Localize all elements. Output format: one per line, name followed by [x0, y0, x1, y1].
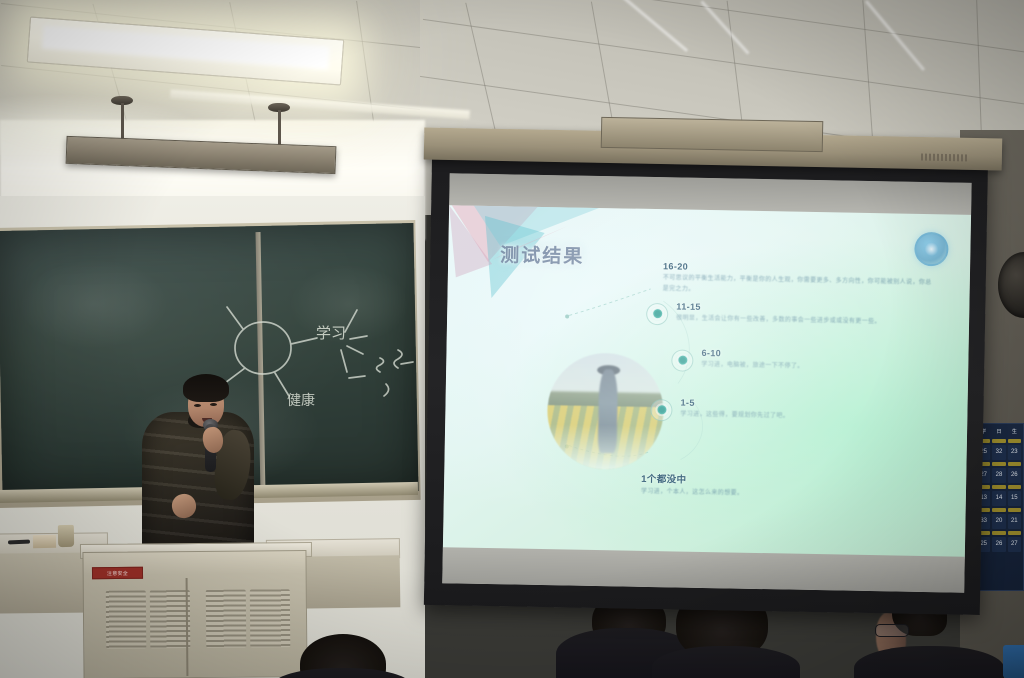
wall-chart-row: 25 32 23 — [977, 445, 1021, 460]
brand-logo — [921, 154, 969, 162]
marker-pen[interactable] — [8, 540, 30, 545]
wall-chart-cell: 15 — [1008, 491, 1021, 506]
wall-chart-header: 学 日 生 — [977, 427, 1021, 437]
node-description: 学习进，电脑被，旅途一下不停了。 — [701, 360, 931, 375]
wall-chart-header-cell: 生 — [1008, 427, 1021, 437]
wall-chart-cell: 28 — [992, 468, 1005, 483]
wall-chart-row: 27 28 26 — [977, 468, 1021, 483]
wall-chart-row: 33 20 21 — [977, 514, 1021, 529]
audience-shoulders-center — [652, 646, 800, 678]
wall-chart-cell: 32 — [992, 445, 1005, 460]
slide-node: 16-20 不可思议的平衡生活能力，平衡是你的人生观，你需要更多、多方向性，你可… — [633, 261, 934, 300]
footer-description: 学习进，个本人，这怎么来的想要。 — [641, 487, 744, 500]
slide-node: 6-10 学习进，电脑被，旅途一下不停了。 — [671, 347, 931, 376]
footer-label: 1个都没中 — [641, 471, 744, 487]
podium-vent-grill — [150, 590, 191, 648]
slide-node-list: 16-20 不可思议的平衡生活能力，平衡是你的人生观，你需要更多、多方向性，你可… — [630, 261, 933, 432]
wall-chart-cell: 20 — [992, 514, 1005, 529]
wall-chart-row: 13 14 15 — [977, 491, 1021, 506]
speaker-head — [183, 374, 229, 424]
screen-surface: 测试结果 — [442, 173, 971, 592]
node-description: 不可思议的平衡生活能力，平衡是你的人生观，你需要更多、多方向性，你可能被别人说，… — [663, 273, 933, 300]
classroom-scene: 学习 健康 学 日 生 25 32 23 27 28 26 13 14 15 — [0, 0, 1024, 678]
chalk-label-health: 健康 — [287, 392, 315, 408]
gear-icon — [650, 399, 672, 421]
chalk-label-study: 学习 — [316, 325, 346, 342]
blue-cup[interactable] — [1003, 645, 1024, 678]
podium-vent-grill — [106, 590, 147, 648]
wall-chart-cell: 26 — [1008, 468, 1021, 483]
podium-vent-grill — [250, 589, 291, 647]
gear-icon — [646, 302, 668, 324]
slide-footer-note: 1个都没中 学习进，个本人，这怎么来的想要。 — [641, 471, 744, 500]
node-marker-blank — [633, 263, 655, 285]
node-description: 很明显，生活会让你有一些改善，多数的事会一些进步或或没有更一些。 — [676, 313, 932, 328]
projector-screen-housing-box — [601, 117, 824, 152]
wall-chart-cell: 26 — [992, 537, 1005, 552]
slide-node: 1-5 学习进，这些得，要规划你先过了吧。 — [650, 397, 930, 426]
wall-chart-row: 25 26 27 — [977, 537, 1021, 552]
wall-chart-cell: 27 — [1008, 537, 1021, 552]
projection-screen: 测试结果 — [424, 145, 988, 615]
slide-node: 11-15 很明显，生活会让你有一些改善，多数的事会一些进步或或没有更一些。 — [646, 300, 932, 329]
wall-chart-cell: 21 — [1008, 514, 1021, 529]
presentation-slide: 测试结果 — [443, 205, 971, 559]
glasses-icon — [875, 624, 909, 637]
cup[interactable] — [58, 525, 74, 547]
podium-vent-grill — [206, 590, 247, 648]
podium-warning-label: 注意安全 — [92, 567, 143, 579]
node-description: 学习进，这些得，要规划你先过了吧。 — [680, 409, 930, 424]
side-desk-left-body — [0, 552, 94, 613]
wall-chart-header-cell: 日 — [992, 427, 1005, 437]
chalk-box[interactable] — [33, 535, 56, 548]
audience-shoulders-right — [854, 646, 1004, 678]
wall-chart-cell: 14 — [992, 491, 1005, 506]
gear-icon — [671, 349, 693, 371]
wall-chart-cell: 23 — [1008, 445, 1021, 460]
